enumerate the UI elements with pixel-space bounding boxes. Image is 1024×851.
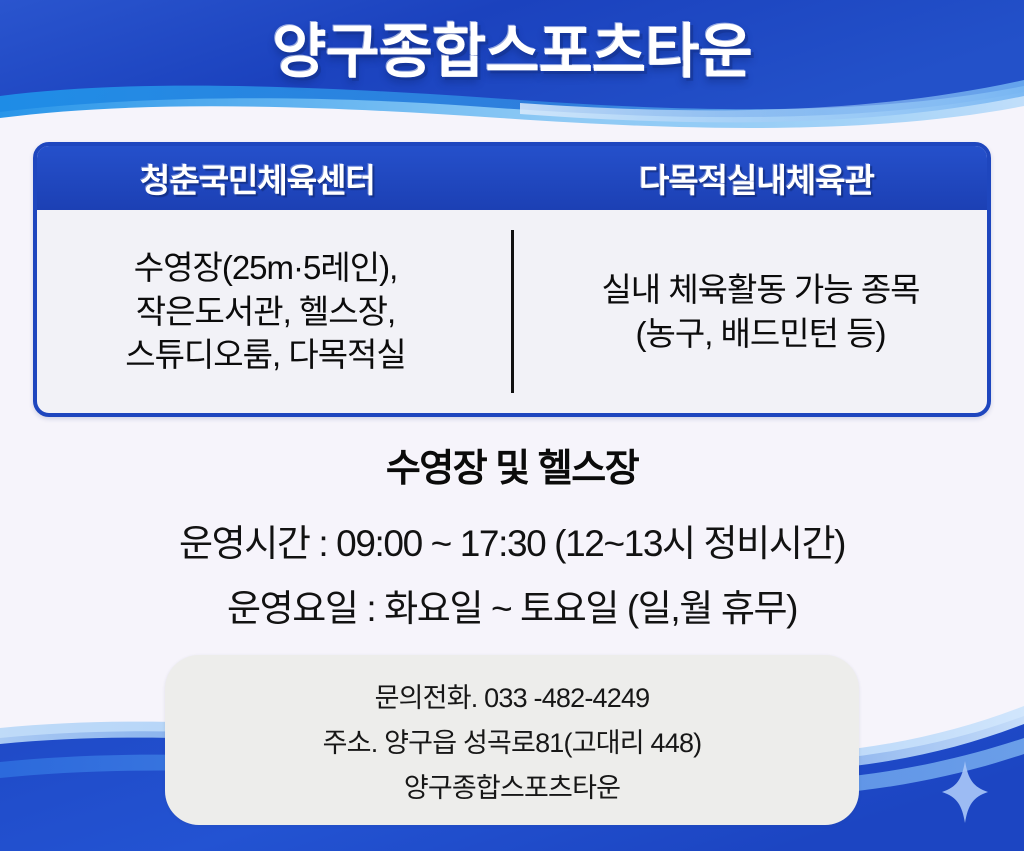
- page-title: 양구종합스포츠타운: [0, 4, 1024, 89]
- schedule-section-title: 수영장 및 헬스장: [0, 437, 1024, 492]
- facility-column-header-1: 청춘국민체육센터: [37, 146, 512, 210]
- facility-table-body-row: 수영장(25m·5레인), 작은도서관, 헬스장, 스튜디오룸, 다목적실 실내…: [37, 210, 987, 413]
- facility-table-header-row: 청춘국민체육센터 다목적실내체육관: [37, 146, 987, 210]
- facility-cell-1-line-2: 작은도서관, 헬스장,: [136, 290, 395, 334]
- facility-table: 청춘국민체육센터 다목적실내체육관 수영장(25m·5레인), 작은도서관, 헬…: [33, 142, 991, 417]
- operating-days-line: 운영요일 : 화요일 ~ 토요일 (일,월 휴무): [0, 578, 1024, 632]
- poster-root: 양구종합스포츠타운 청춘국민체육센터 다목적실내체육관 수영장(25m·5레인)…: [0, 0, 1024, 851]
- facility-cell-1-line-1: 수영장(25m·5레인),: [134, 246, 398, 290]
- contact-address: 주소. 양구읍 성곡로81(고대리 448): [323, 721, 702, 760]
- operating-hours-line: 운영시간 : 09:00 ~ 17:30 (12~13시 정비시간): [0, 513, 1024, 567]
- facility-column-header-2: 다목적실내체육관: [512, 146, 987, 210]
- contact-phone: 문의전화. 033 -482-4249: [375, 676, 650, 715]
- contact-card: 문의전화. 033 -482-4249 주소. 양구읍 성곡로81(고대리 44…: [165, 655, 859, 825]
- facility-cell-1: 수영장(25m·5레인), 작은도서관, 헬스장, 스튜디오룸, 다목적실: [37, 210, 512, 413]
- header-banner: 양구종합스포츠타운: [0, 0, 1024, 140]
- sparkle-star-icon: [942, 761, 988, 823]
- contact-facility-name: 양구종합스포츠타운: [404, 766, 620, 805]
- column-divider: [511, 230, 514, 393]
- facility-cell-2-line-1: 실내 체육활동 가능 종목: [601, 268, 919, 312]
- facility-cell-1-line-3: 스튜디오룸, 다목적실: [125, 333, 406, 377]
- facility-cell-2-line-2: (농구, 배드민턴 등): [635, 312, 885, 356]
- facility-cell-2: 실내 체육활동 가능 종목 (농구, 배드민턴 등): [512, 210, 987, 413]
